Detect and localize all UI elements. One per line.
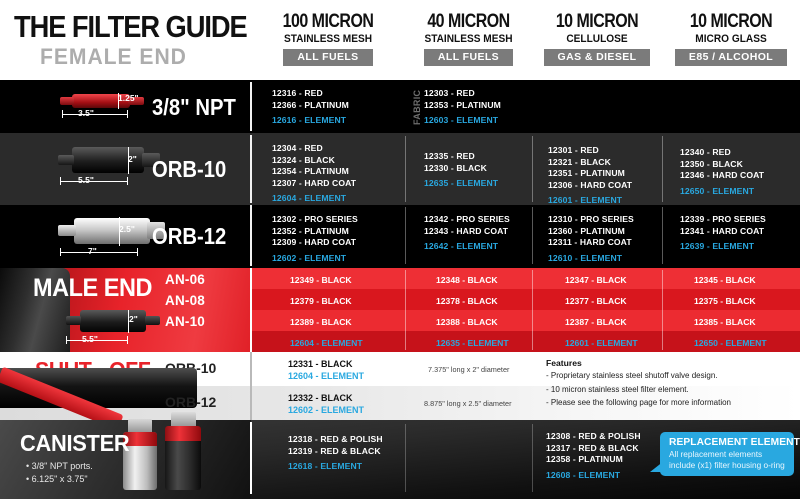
section-male-end: MALE END 5.5" 2" AN-06 AN-08 AN-10: [0, 268, 800, 352]
column-header-100-micron: 100 MICRON STAINLESS MESH ALL FUELS: [251, 12, 405, 66]
cell-orb12-10micron-microglass: 12339 - PRO SERIES 12341 - HARD COAT 126…: [680, 214, 766, 253]
column-divider: [532, 136, 533, 202]
element-part-number: 12608 - ELEMENT: [546, 470, 641, 482]
column-divider: [405, 424, 406, 492]
column-divider: [662, 270, 663, 350]
dimension-diameter: 2": [129, 314, 138, 324]
cell-an06-cellulose: 12347 - BLACK: [565, 275, 627, 285]
element-part-number: 12604 - ELEMENT: [290, 338, 363, 348]
part-number: 12308 - RED & POLISH: [546, 431, 641, 443]
cell-npt-40micron: 12303 - RED 12353 - PLATINUM 12603 - ELE…: [424, 88, 501, 127]
filter-guide-sheet: THE FILTER GUIDE FEMALE END 100 MICRON S…: [0, 0, 800, 499]
column-divider: [662, 207, 663, 264]
dimension-shutoff-orb12: 8.875" long x 2.5" diameter: [424, 399, 512, 408]
column-material-label: STAINLESS MESH: [410, 32, 527, 46]
filter-photo-male: [64, 310, 174, 332]
cell-canister-100micron: 12318 - RED & POLISH 12319 - RED & BLACK…: [288, 434, 383, 473]
part-number: 12301 - RED: [548, 145, 632, 157]
table-row-npt: 3.5" 1.25" 3/8" NPT 12316 - RED 12366 - …: [0, 80, 800, 133]
column-header-10-micron-cellulose: 10 MICRON CELLULOSE GAS & DIESEL: [532, 12, 662, 66]
element-part-number: 12610 - ELEMENT: [548, 253, 634, 265]
column-header-40-micron: 40 MICRON STAINLESS MESH ALL FUELS: [405, 12, 532, 66]
header-column-divider: [250, 82, 252, 131]
part-number: 12302 - PRO SERIES: [272, 214, 358, 226]
cell-an08-40micron: 12378 - BLACK: [436, 296, 498, 306]
part-number: 12309 - HARD COAT: [272, 237, 358, 249]
column-micron-label: 100 MICRON: [263, 12, 392, 32]
cell-an10-cellulose: 12387 - BLACK: [565, 317, 627, 327]
feature-item: - 10 micron stainless steel filter eleme…: [546, 384, 689, 396]
part-number: 12342 - PRO SERIES: [424, 214, 510, 226]
cell-orb12-10micron-cellulose: 12310 - PRO SERIES 12360 - PLATINUM 1231…: [548, 214, 634, 264]
part-number: 12332 - BLACK: [288, 392, 364, 404]
element-part-number: 12618 - ELEMENT: [288, 461, 383, 473]
features-heading: Features: [546, 358, 582, 368]
part-number: 12321 - BLACK: [548, 157, 632, 169]
part-number: 12311 - HARD COAT: [548, 237, 634, 249]
column-fuel-badge: E85 / ALCOHOL: [675, 49, 787, 66]
cell-an06-40micron: 12348 - BLACK: [436, 275, 498, 285]
cell-an10-40micron: 12388 - BLACK: [436, 317, 498, 327]
cell-canister-cellulose: 12308 - RED & POLISH 12317 - RED & BLACK…: [546, 431, 641, 481]
part-number: 12346 - HARD COAT: [680, 170, 764, 182]
table-row-shutoff-orb12: ORB-12 12332 - BLACK 12602 - ELEMENT 8.8…: [0, 386, 800, 420]
row-label-npt: 3/8" NPT: [152, 94, 236, 121]
part-number: 12352 - PLATINUM: [272, 226, 358, 238]
element-part-number: 12635 - ELEMENT: [436, 338, 509, 348]
header: THE FILTER GUIDE FEMALE END 100 MICRON S…: [0, 0, 800, 80]
part-number: 12353 - PLATINUM: [424, 100, 501, 112]
part-number: 12306 - HARD COAT: [548, 180, 632, 192]
table-row-orb12: 7" 2.5" ORB-12 12302 - PRO SERIES 12352 …: [0, 205, 800, 268]
cell-shutoff-orb10-part: 12331 - BLACK 12604 - ELEMENT: [288, 358, 364, 382]
feature-item: - Please see the following page for more…: [546, 397, 731, 409]
dimension-diameter: 1.25": [118, 93, 139, 103]
row-label-orb12: ORB-12: [152, 223, 226, 250]
element-part-number: 12604 - ELEMENT: [288, 370, 364, 382]
section-subtitle-female-end: FEMALE END: [40, 44, 187, 70]
cell-an08-100micron: 12379 - BLACK: [290, 296, 352, 306]
part-number: 12303 - RED: [424, 88, 501, 100]
dimension-length: 5.5": [82, 334, 98, 344]
column-fuel-badge: ALL FUELS: [424, 49, 513, 66]
column-header-10-micron-micro-glass: 10 MICRON MICRO GLASS E85 / ALCOHOL: [662, 12, 800, 66]
canister-spec-size: • 6.125" x 3.75": [26, 473, 88, 486]
element-part-number: 12603 - ELEMENT: [424, 115, 501, 127]
column-divider: [405, 270, 406, 350]
size-label-an10: AN-10: [165, 314, 205, 329]
part-number: 12317 - RED & BLACK: [546, 443, 641, 455]
part-number: 12319 - RED & BLACK: [288, 446, 383, 458]
column-divider: [405, 136, 406, 202]
cell-orb10-10micron-cellulose: 12301 - RED 12321 - BLACK 12351 - PLATIN…: [548, 145, 632, 207]
dimension-diameter: 2": [128, 154, 137, 164]
element-part-number: 12602 - ELEMENT: [288, 404, 364, 416]
cell-an06-100micron: 12349 - BLACK: [290, 275, 352, 285]
part-number: 12310 - PRO SERIES: [548, 214, 634, 226]
size-label-an08: AN-08: [165, 293, 205, 308]
cell-an10-100micron: 12389 - BLACK: [290, 317, 352, 327]
callout-heading: REPLACEMENT ELEMENTS: [669, 437, 787, 448]
column-material-label: STAINLESS MESH: [257, 32, 399, 46]
canister-photo-black: [165, 426, 201, 490]
canister-left-pane: CANISTER • 3/8" NPT ports. • 6.125" x 3.…: [0, 420, 251, 499]
element-part-number: 12601 - ELEMENT: [565, 338, 638, 348]
element-part-number: 12650 - ELEMENT: [680, 186, 764, 198]
part-number: 12304 - RED: [272, 143, 377, 155]
column-divider: [662, 136, 663, 202]
element-part-number: 12642 - ELEMENT: [424, 241, 510, 253]
column-divider: [532, 424, 533, 492]
male-end-left-pane: MALE END 5.5" 2": [0, 268, 251, 352]
element-part-number: 12650 - ELEMENT: [694, 338, 767, 348]
cell-an08-microglass: 12375 - BLACK: [694, 296, 756, 306]
part-number: 12351 - PLATINUM: [548, 168, 632, 180]
element-part-number: 12616 - ELEMENT: [272, 115, 349, 127]
cell-orb10-10micron-microglass: 12340 - RED 12350 - BLACK 12346 - HARD C…: [680, 147, 764, 197]
cell-shutoff-orb12-part: 12332 - BLACK 12602 - ELEMENT: [288, 392, 364, 416]
element-part-number: 12602 - ELEMENT: [272, 253, 358, 265]
part-number: 12343 - HARD COAT: [424, 226, 510, 238]
part-number: 12316 - RED: [272, 88, 349, 100]
part-number: 12358 - PLATINUM: [546, 454, 641, 466]
part-number: 12350 - BLACK: [680, 159, 764, 171]
column-micron-label: 40 MICRON: [415, 12, 522, 32]
canister-spec-ports: • 3/8" NPT ports.: [26, 460, 93, 473]
dimension-shutoff-orb10: 7.375" long x 2" diameter: [428, 365, 509, 374]
callout-line-1: All replacement elements: [669, 449, 787, 460]
element-part-number: 12639 - ELEMENT: [680, 241, 766, 253]
part-number: 12340 - RED: [680, 147, 764, 159]
part-number: 12339 - PRO SERIES: [680, 214, 766, 226]
element-part-number: 12604 - ELEMENT: [272, 193, 377, 205]
cell-orb12-100micron: 12302 - PRO SERIES 12352 - PLATINUM 1230…: [272, 214, 358, 264]
column-material-label: MICRO GLASS: [668, 32, 795, 46]
column-divider: [405, 207, 406, 264]
callout-line-2: include (x1) filter housing o-ring: [669, 460, 787, 471]
column-divider: [532, 270, 533, 350]
section-canister: CANISTER • 3/8" NPT ports. • 6.125" x 3.…: [0, 420, 800, 499]
part-number: 12335 - RED: [424, 151, 498, 163]
column-micron-label: 10 MICRON: [542, 12, 651, 32]
part-number: 12341 - HARD COAT: [680, 226, 766, 238]
product-grid: 3.5" 1.25" 3/8" NPT 12316 - RED 12366 - …: [0, 80, 800, 499]
part-number: 12354 - PLATINUM: [272, 166, 377, 178]
fabric-tag: FABRIC: [412, 90, 422, 125]
replacement-elements-callout: REPLACEMENT ELEMENTS All replacement ele…: [660, 432, 794, 476]
page-title: THE FILTER GUIDE: [14, 9, 247, 45]
part-number: 12307 - HARD COAT: [272, 178, 377, 190]
size-label-an06: AN-06: [165, 272, 205, 287]
dimension-length: 3.5": [78, 108, 94, 118]
part-number: 12318 - RED & POLISH: [288, 434, 383, 446]
part-number: 12360 - PLATINUM: [548, 226, 634, 238]
dimension-line-length: [62, 114, 128, 115]
column-material-label: CELLULOSE: [537, 32, 657, 46]
cell-orb12-40micron: 12342 - PRO SERIES 12343 - HARD COAT 126…: [424, 214, 510, 253]
feature-item: - Proprietary stainless steel shutoff va…: [546, 370, 718, 382]
section-title-male-end: MALE END: [33, 274, 152, 303]
part-number: 12324 - BLACK: [272, 155, 377, 167]
dimension-length: 7": [88, 246, 97, 256]
section-title-canister: CANISTER: [20, 430, 129, 457]
cell-an08-cellulose: 12377 - BLACK: [565, 296, 627, 306]
cell-an10-microglass: 12385 - BLACK: [694, 317, 756, 327]
part-number: 12330 - BLACK: [424, 163, 498, 175]
cell-npt-100micron: 12316 - RED 12366 - PLATINUM 12616 - ELE…: [272, 88, 349, 127]
column-fuel-badge: GAS & DIESEL: [544, 49, 651, 66]
row-label-orb10: ORB-10: [152, 156, 226, 183]
table-row-orb10: 5.5" 2" ORB-10 12304 - RED 12324 - BLACK…: [0, 133, 800, 205]
column-divider: [532, 207, 533, 264]
part-number: 12331 - BLACK: [288, 358, 364, 370]
part-number: 12366 - PLATINUM: [272, 100, 349, 112]
size-label-shutoff-orb12: ORB-12: [165, 394, 216, 410]
column-micron-label: 10 MICRON: [673, 12, 789, 32]
dimension-length: 5.5": [78, 175, 94, 185]
dimension-diameter: 2.5": [119, 224, 135, 234]
element-part-number: 12635 - ELEMENT: [424, 178, 498, 190]
cell-an06-microglass: 12345 - BLACK: [694, 275, 756, 285]
column-fuel-badge: ALL FUELS: [283, 49, 372, 66]
cell-orb10-40micron: 12335 - RED 12330 - BLACK 12635 - ELEMEN…: [424, 151, 498, 190]
